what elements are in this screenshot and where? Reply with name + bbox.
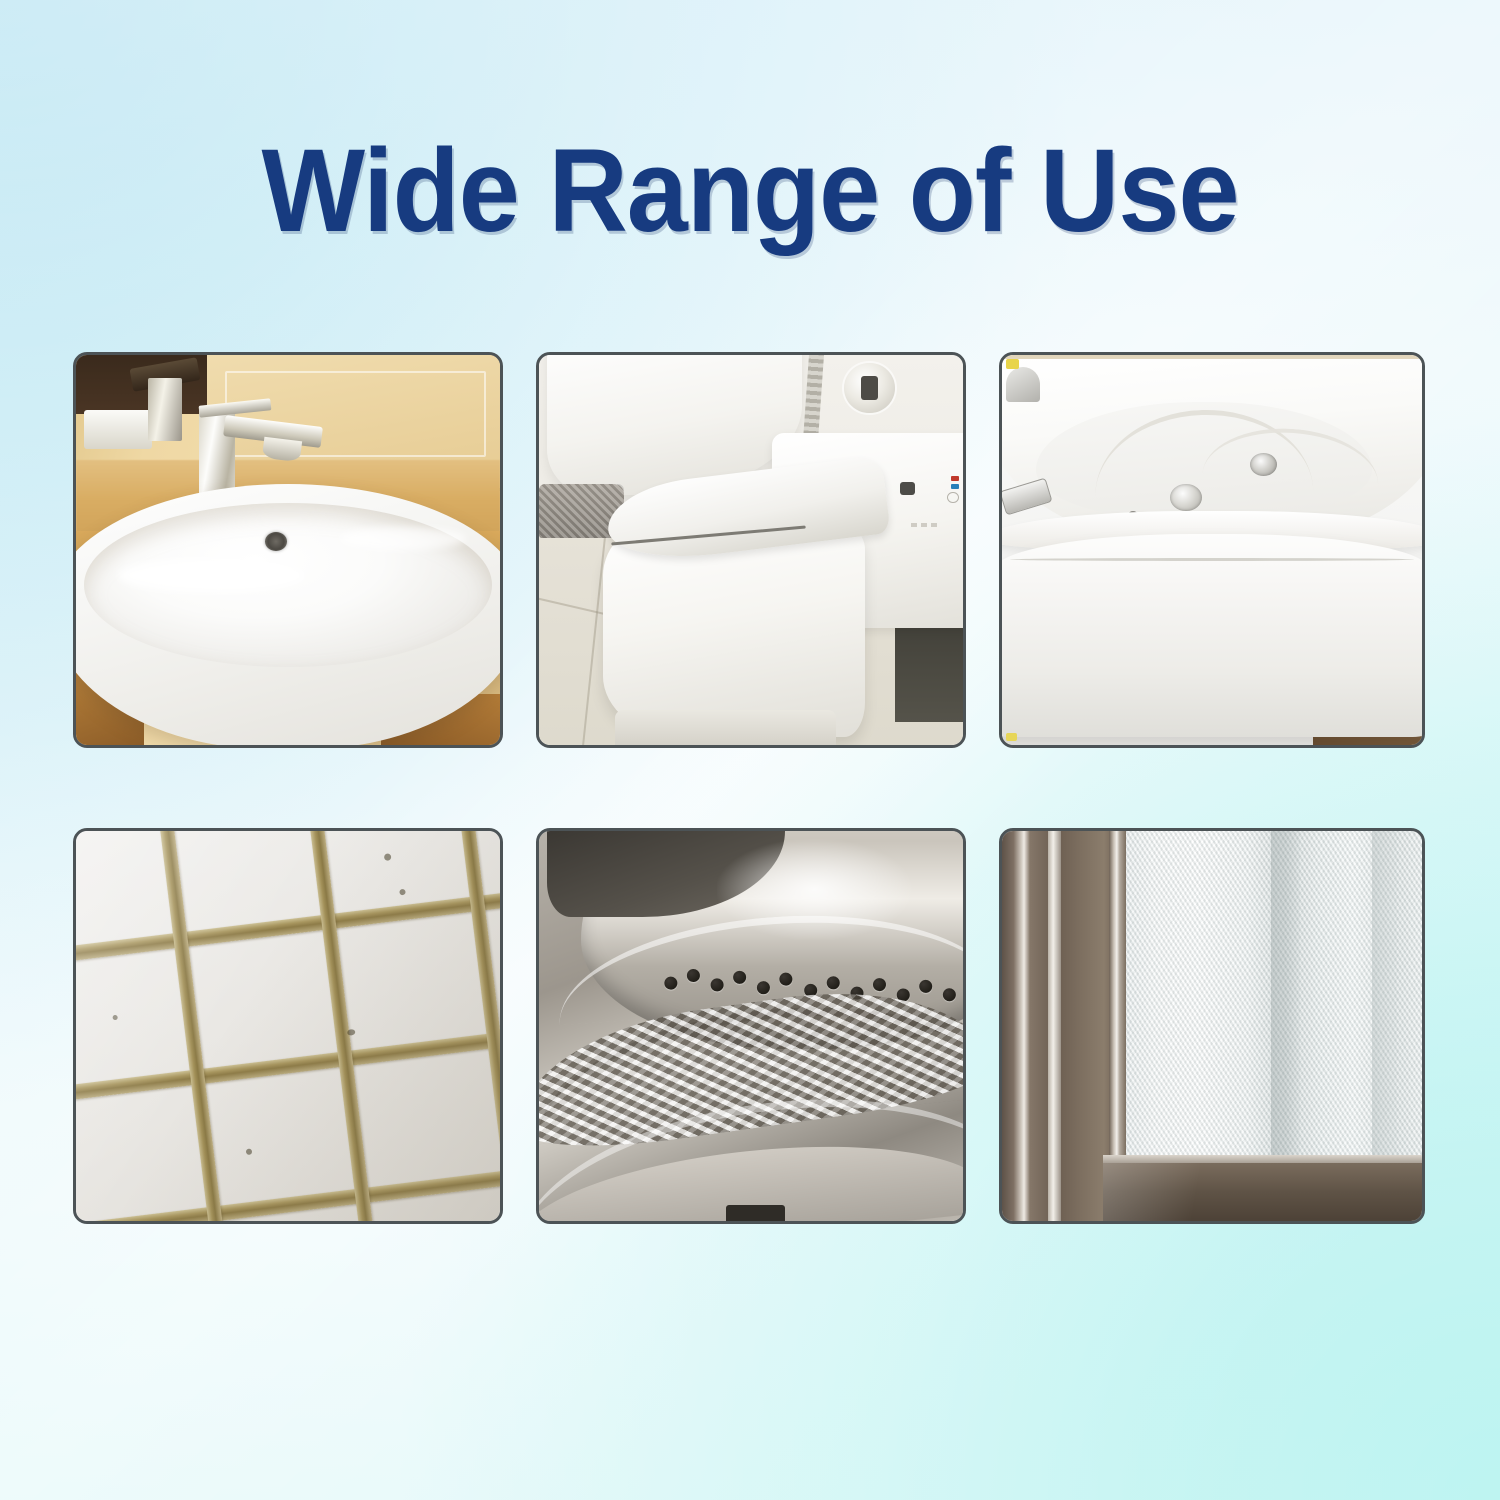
drum-hole: [872, 977, 886, 991]
power-button-icon: [947, 492, 959, 504]
drum-hole: [943, 988, 957, 1002]
gallery-tile-smart-toilet[interactable]: [536, 352, 966, 748]
door-sill-highlight: [1103, 1163, 1422, 1222]
vent-slot-3: [931, 523, 937, 527]
corner-accent-bottom: [1006, 733, 1017, 741]
gallery-tile-whirlpool-bathtub[interactable]: [999, 352, 1425, 748]
bathtub-panel-seam: [1010, 558, 1413, 561]
bathtub-front-panel: [1002, 534, 1422, 737]
toilet-base: [615, 710, 835, 745]
sink-drain-icon: [265, 532, 287, 551]
gallery-tile-tile-grout[interactable]: [73, 828, 503, 1224]
whirlpool-bathtub-photo: [1002, 355, 1422, 745]
indicator-led-red: [951, 476, 959, 481]
drum-hole: [779, 972, 793, 986]
tile-grout-photo: [76, 831, 500, 1221]
drum-hole: [710, 979, 724, 993]
sink-highlight-2: [339, 527, 466, 550]
drum-clip: [726, 1205, 785, 1221]
gallery-tile-bathroom-sink[interactable]: [73, 352, 503, 748]
sink-soap-dish: [84, 410, 152, 449]
grout-lighting-overlay: [76, 831, 500, 1221]
drum-hole: [826, 976, 840, 990]
frosted-glass-door-photo: [1002, 831, 1422, 1221]
gallery-grid: [73, 352, 1428, 1224]
control-panel-button: [900, 482, 914, 496]
drum-hole: [686, 969, 700, 983]
gallery-tile-frosted-glass-door[interactable]: [999, 828, 1425, 1224]
washing-machine-drum-photo: [539, 831, 963, 1221]
glass-reflection-band-1: [1271, 831, 1300, 1166]
bathtub-fixture-top-left: [1006, 367, 1040, 402]
page-root: Wide Range of Use: [0, 0, 1500, 1500]
door-frame-left-highlight: [1048, 831, 1061, 1221]
vent-slot-1: [911, 523, 917, 527]
gallery-tile-washer-drum[interactable]: [536, 828, 966, 1224]
faucet-knob: [148, 378, 182, 440]
smart-toilet-photo: [539, 355, 963, 745]
whirlpool-jet-icon-2: [1250, 453, 1277, 476]
vent-slot-2: [921, 523, 927, 527]
indicator-led-blue: [951, 484, 959, 489]
drum-hole: [732, 970, 746, 984]
page-title: Wide Range of Use: [53, 132, 1448, 250]
drum-hole: [919, 979, 933, 993]
corner-accent-top: [1006, 359, 1019, 369]
sink-highlight-1: [118, 558, 305, 593]
glass-reflection-band-2: [1372, 831, 1397, 1166]
bathroom-sink-photo: [76, 355, 500, 745]
drum-hole: [756, 980, 770, 994]
whirlpool-jet-icon-1: [1170, 484, 1202, 511]
drum-hole: [663, 977, 677, 991]
